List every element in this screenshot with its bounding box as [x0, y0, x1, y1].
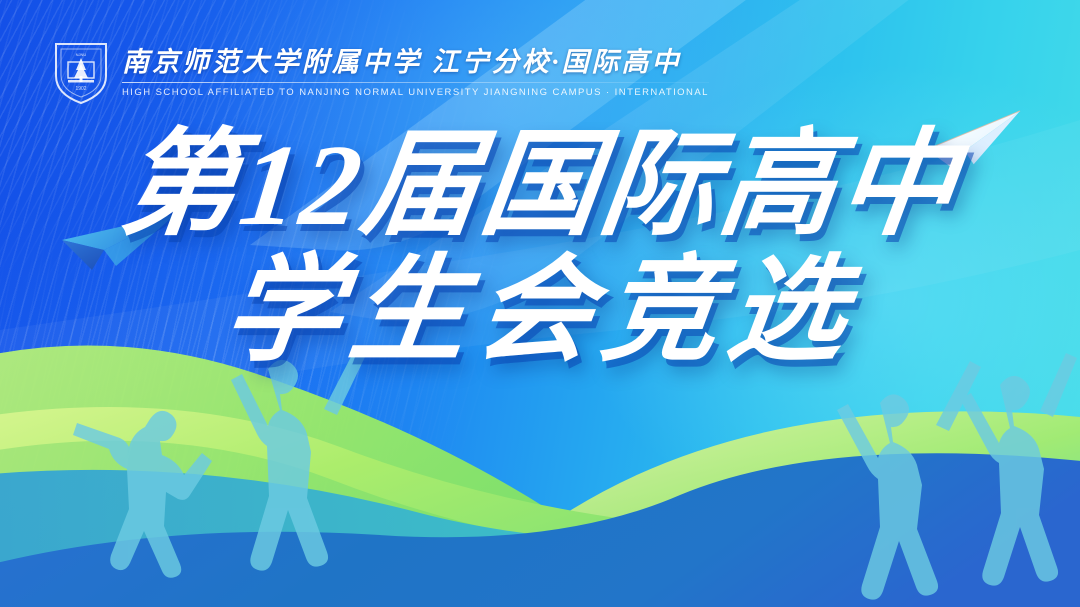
school-name-block: 南京师范大学附属中学 江宁分校·国际高中 HIGH SCHOOL AFFILIA…: [122, 48, 709, 97]
school-name-en: HIGH SCHOOL AFFILIATED TO NANJING NORMAL…: [122, 87, 709, 98]
poster-canvas: NJNU 1902 南京师范大学附属中学 江宁分校·国际高中 HIGH SCHO…: [0, 0, 1080, 607]
school-shield-crest-icon: NJNU 1902: [52, 40, 110, 106]
jumping-students-silhouettes: [0, 307, 1080, 607]
svg-text:NJNU: NJNU: [76, 52, 87, 57]
school-name-cn: 南京师范大学附属中学 江宁分校·国际高中: [122, 48, 709, 76]
paper-plane-right: [918, 104, 1034, 176]
paper-plane-left: [58, 196, 190, 278]
school-identity-header: NJNU 1902 南京师范大学附属中学 江宁分校·国际高中 HIGH SCHO…: [52, 40, 709, 106]
svg-text:1902: 1902: [75, 86, 86, 92]
paper-plane-icon: [918, 104, 1034, 176]
school-name-divider: [122, 82, 709, 83]
paper-plane-icon: [58, 196, 190, 278]
